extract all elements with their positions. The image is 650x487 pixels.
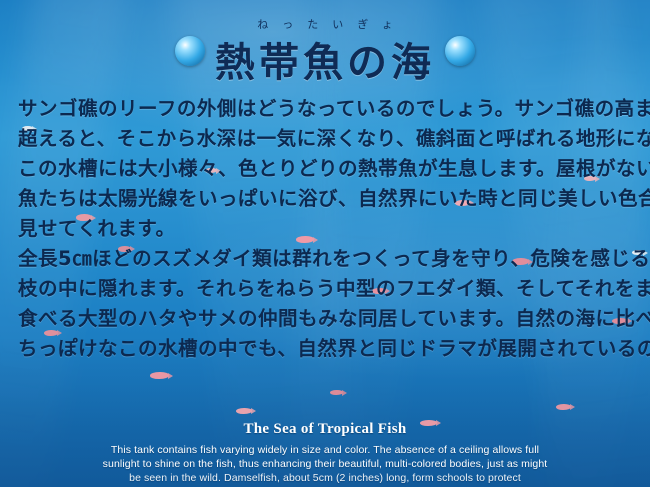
english-line: This tank contains fish varying widely i…: [0, 443, 650, 457]
japanese-line: 超えると、そこから水深は一気に深くなり、礁斜面と呼ばれる地形になります。: [18, 124, 634, 154]
japanese-line: 魚たちは太陽光線をいっぱいに浴び、自然界にいた時と同じ美しい色合いを: [18, 184, 634, 214]
sign-content: ねったいぎょ 熱帯魚の海 サンゴ礁のリーフの外側はどうなっているのでしょう。サン…: [0, 0, 650, 487]
japanese-line: 見せてくれます。: [18, 214, 634, 244]
japanese-line: サンゴ礁のリーフの外側はどうなっているのでしょう。サンゴ礁の高まりを: [18, 94, 634, 124]
japanese-line: ちっぽけなこの水槽の中でも、自然界と同じドラマが展開されているのです。: [18, 334, 634, 364]
japanese-line: 食べる大型のハタやサメの仲間もみな同居しています。自然の海に比べたら: [18, 304, 634, 334]
japanese-body: サンゴ礁のリーフの外側はどうなっているのでしょう。サンゴ礁の高まりを 超えると、…: [18, 94, 634, 364]
title-row: 熱帯魚の海: [0, 30, 650, 88]
english-line: sunlight to shine on the fish, thus enha…: [0, 457, 650, 471]
bubble-orb-icon: [175, 36, 205, 66]
bubble-orb-icon: [445, 36, 475, 66]
english-title: The Sea of Tropical Fish: [0, 421, 650, 438]
japanese-line: 枝の中に隠れます。それらをねらう中型のフエダイ類、そしてそれをまた襲って: [18, 274, 634, 304]
japanese-line: この水槽には大小様々、色とりどりの熱帯魚が生息します。屋根がないので、: [18, 154, 634, 184]
english-line: be seen in the wild. Damselfish, about 5…: [0, 471, 650, 485]
japanese-line: 全長5㎝ほどのスズメダイ類は群れをつくって身を守り、危険を感じるとサンゴの: [18, 244, 634, 274]
aquarium-sign-panel: ねったいぎょ 熱帯魚の海 サンゴ礁のリーフの外側はどうなっているのでしょう。サン…: [0, 0, 650, 487]
page-title: 熱帯魚の海: [215, 30, 435, 88]
english-block: The Sea of Tropical Fish This tank conta…: [0, 421, 650, 485]
